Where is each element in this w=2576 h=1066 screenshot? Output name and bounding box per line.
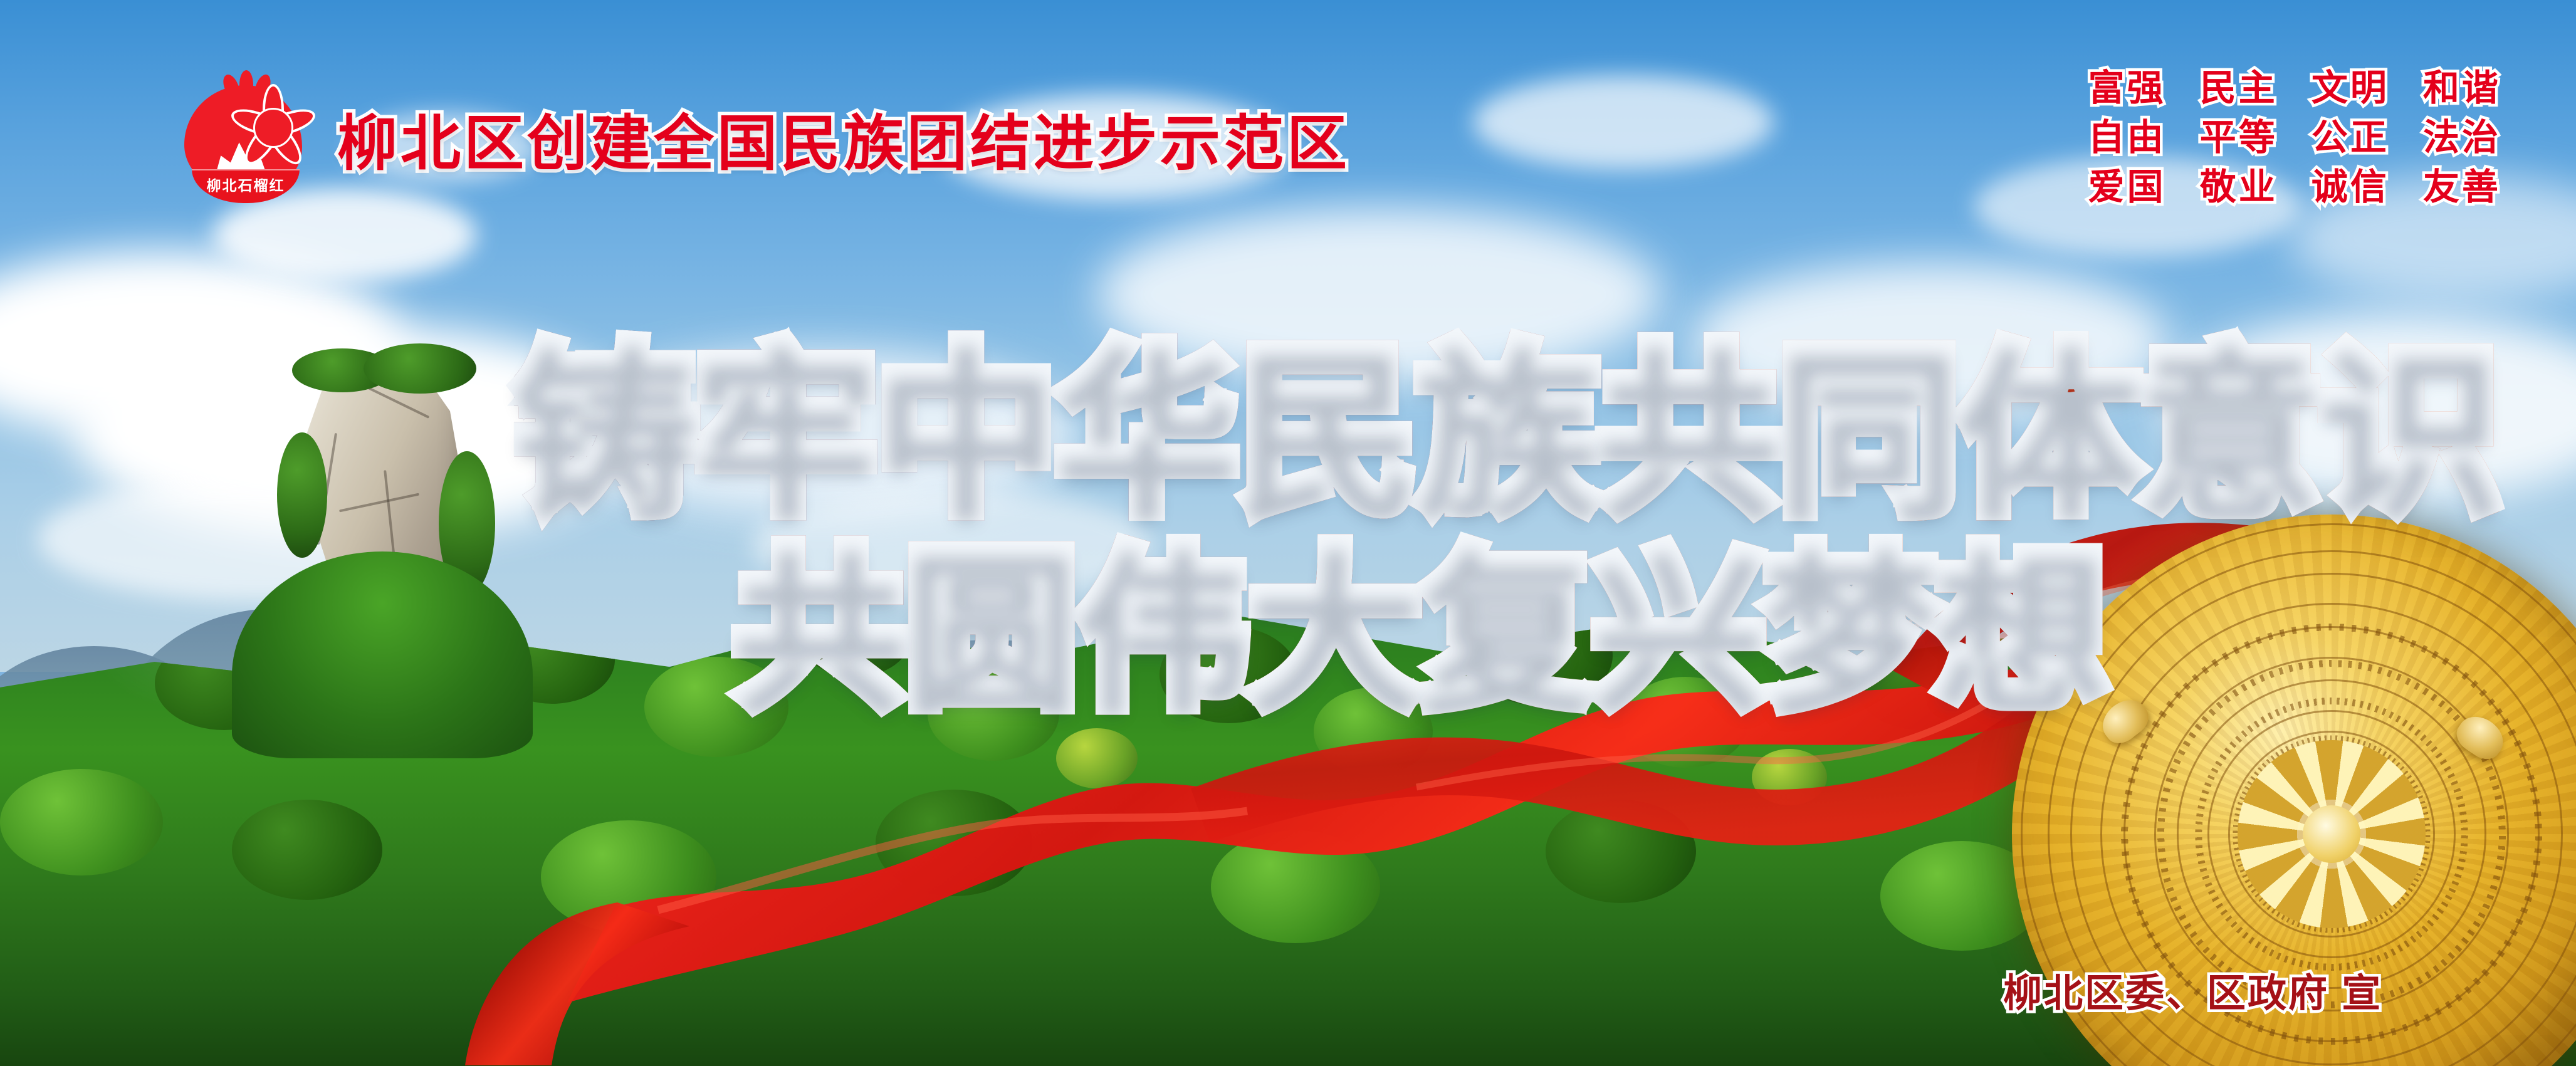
core-value-word: 平等 (2200, 117, 2278, 158)
core-value-word: 友善 (2423, 167, 2501, 207)
core-value-word: 法治 (2423, 117, 2501, 158)
core-value-word: 文明 (2312, 68, 2389, 108)
core-values-row-1: 富强 民主 文明 和谐 (2088, 65, 2501, 111)
core-value-word: 公正 (2312, 117, 2389, 158)
karst-peak (232, 357, 533, 758)
core-value-word: 爱国 (2088, 167, 2166, 207)
logo-ribbon-label: 柳北石榴红 (192, 169, 300, 203)
core-values-row-2: 自由 平等 公正 法治 (2088, 115, 2501, 160)
logo-ribbon-text: 柳北石榴红 (207, 174, 285, 195)
core-value-word: 富强 (2088, 68, 2166, 108)
pomegranate-flower-logo-icon: 柳北石榴红 (179, 69, 316, 207)
core-value-word: 敬业 (2200, 167, 2278, 207)
core-values-row-3: 爱国 敬业 诚信 友善 (2088, 164, 2501, 210)
attribution-text: 柳北区委、区政府 宣 (2003, 961, 2382, 1018)
core-value-word: 民主 (2200, 68, 2278, 108)
header-title: 柳北区创建全国民族团结进步示范区 (337, 95, 1350, 182)
core-socialist-values: 富强 民主 文明 和谐 自由 平等 公正 法治 爱国 敬业 诚信 友善 (2088, 65, 2501, 210)
core-value-word: 诚信 (2312, 167, 2389, 207)
core-value-word: 自由 (2088, 117, 2166, 158)
core-value-word: 和谐 (2423, 68, 2501, 108)
propaganda-banner: 柳北石榴红 柳北区创建全国民族团结进步示范区 富强 民主 文明 和谐 自由 平等… (0, 0, 2576, 1066)
header-group: 柳北石榴红 柳北区创建全国民族团结进步示范区 (179, 69, 1350, 207)
